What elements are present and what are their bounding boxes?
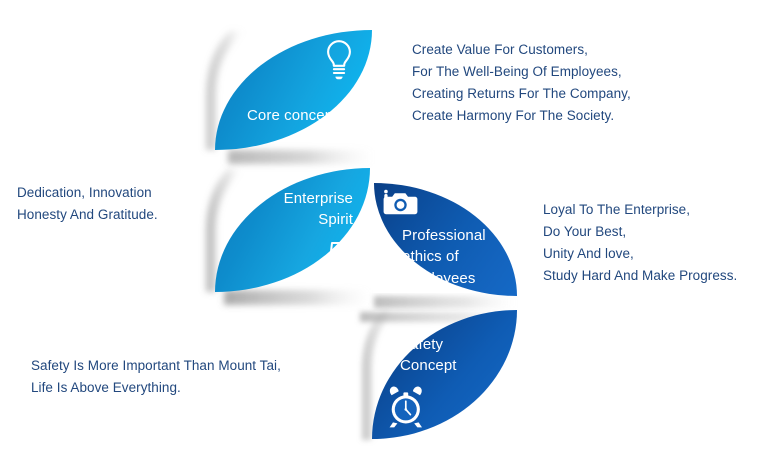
leaf-safety-concept[interactable]: Safety Concept	[372, 310, 517, 439]
note-enterprise-spirit: Dedication, Innovation Honesty And Grati…	[17, 182, 232, 226]
camera-icon	[381, 187, 425, 221]
note-safety-concept: Safety Is More Important Than Mount Tai,…	[31, 355, 331, 399]
wristwatch-icon	[320, 240, 356, 286]
leaf-enterprise-spirit[interactable]: Enterprise Spirit	[215, 168, 370, 292]
leaf-safety-concept-label: Safety Concept	[400, 334, 510, 377]
note-professional-ethics: Loyal To The Enterprise, Do Your Best, U…	[543, 199, 768, 286]
infographic-canvas: Core concept	[0, 0, 770, 474]
leaf-core-concept-label: Core concept	[247, 105, 367, 126]
lightbulb-icon	[322, 38, 356, 82]
leaf-professional-ethics[interactable]: Professional ethics of employees	[374, 183, 517, 296]
leaf-enterprise-spirit-label: Enterprise Spirit	[235, 188, 353, 231]
note-core-concept: Create Value For Customers, For The Well…	[412, 39, 712, 126]
leaf-professional-ethics-label: Professional ethics of employees	[402, 225, 520, 289]
alarm-clock-icon	[383, 385, 431, 431]
leaf-core-concept[interactable]: Core concept	[215, 30, 372, 150]
